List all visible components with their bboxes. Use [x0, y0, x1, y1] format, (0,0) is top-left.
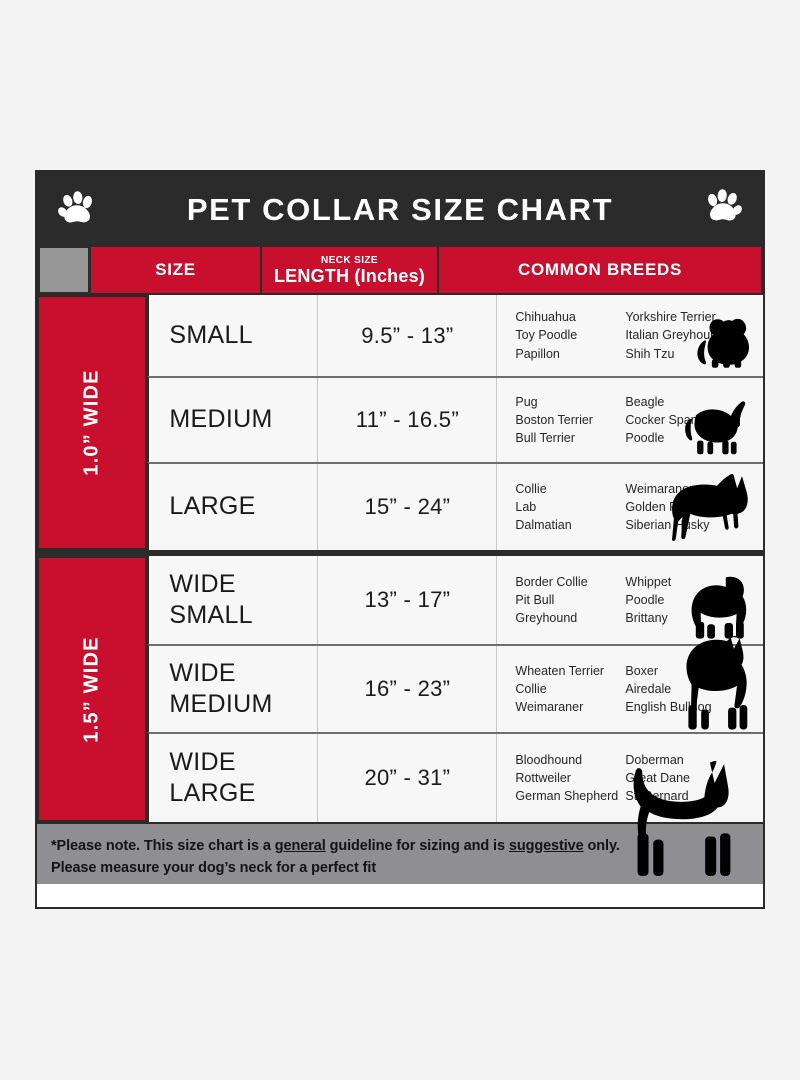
header-length-neck-size: NECK SIZE: [321, 256, 378, 266]
breed-item: Cocker Spaniel: [625, 411, 735, 429]
header-size: SIZE: [89, 247, 260, 293]
breed-item: Rottweiler: [515, 769, 625, 787]
breed-item: Collie: [515, 480, 625, 498]
breed-item: Border Collie: [515, 573, 625, 591]
header-corner-cell: [39, 247, 89, 293]
breed-item: Toy Poodle: [515, 326, 625, 344]
table-row: SMALL 9.5” - 13” Chihuahua Toy Poodle Pa…: [147, 295, 763, 376]
table-row: LARGE 15” - 24” Collie Lab Dalmatian Wei…: [147, 462, 763, 550]
footer-line-1: *Please note. This size chart is a gener…: [51, 835, 749, 857]
breed-item: Dalmatian: [515, 516, 625, 534]
breed-item: Bloodhound: [515, 751, 625, 769]
breed-column-1: Chihuahua Toy Poodle Papillon: [515, 308, 625, 362]
row-size-cell: SMALL: [149, 295, 318, 376]
breed-item: Bull Terrier: [515, 429, 625, 447]
breed-column-1: Border Collie Pit Bull Greyhound: [515, 573, 625, 627]
group-label-1-0-wide: 1.0” WIDE: [37, 295, 147, 550]
row-breeds-cell: Pug Boston Terrier Bull Terrier Beagle C…: [497, 378, 763, 462]
breed-item: Golden Retriever: [625, 498, 735, 516]
breed-item: Chihuahua: [515, 308, 625, 326]
footer-text-suggestive: suggestive: [509, 838, 584, 854]
row-size-label: SMALL: [169, 320, 252, 351]
table-row: MEDIUM 11” - 16.5” Pug Boston Terrier Bu…: [147, 376, 763, 462]
header-common-breeds: COMMON BREEDS: [437, 247, 761, 293]
row-size-label: WIDE: [169, 569, 235, 600]
breed-item: Poodle: [625, 591, 735, 609]
row-breeds-cell: Chihuahua Toy Poodle Papillon Yorkshire …: [497, 295, 763, 376]
breed-item: Pit Bull: [515, 591, 625, 609]
breed-item: Poodle: [625, 429, 735, 447]
breed-column-2: Weimaraner Golden Retriever Siberian Hus…: [625, 480, 735, 534]
breed-column-1: Wheaten Terrier Collie Weimaraner: [515, 662, 625, 716]
row-size-cell: WIDE LARGE: [149, 734, 318, 822]
row-length-cell: 15” - 24”: [318, 464, 497, 550]
table-body: 1.0” WIDE SMALL 9.5” - 13” Chihuahua Toy…: [37, 295, 763, 822]
breed-item: Wheaten Terrier: [515, 662, 625, 680]
row-length-cell: 13” - 17”: [318, 556, 497, 644]
group-label-text: 1.5” WIDE: [81, 636, 104, 742]
row-breeds-cell: Wheaten Terrier Collie Weimaraner Boxer …: [497, 646, 763, 732]
footer-line-2: Please measure your dog’s neck for a per…: [51, 857, 749, 879]
footer-text-a: *Please note. This size chart is a: [51, 838, 275, 854]
breed-item: Boston Terrier: [515, 411, 625, 429]
pet-collar-size-chart: PET COLLAR SIZE CHART SIZE NECK SIZE LEN…: [35, 170, 765, 909]
row-size-label: WIDE: [169, 658, 235, 689]
size-group-1-0-wide: 1.0” WIDE SMALL 9.5” - 13” Chihuahua Toy…: [37, 295, 763, 550]
footer-note: *Please note. This size chart is a gener…: [37, 822, 763, 884]
breed-item: English Bulldog: [625, 698, 735, 716]
row-size-label: WIDE: [169, 747, 235, 778]
row-size-label-2: SMALL: [169, 600, 252, 631]
footer-text-c: only.: [584, 838, 620, 854]
row-breeds-cell: Border Collie Pit Bull Greyhound Whippet…: [497, 556, 763, 644]
breed-item: Whippet: [625, 573, 735, 591]
breed-item: Weimaraner: [515, 698, 625, 716]
row-length-cell: 20” - 31”: [318, 734, 497, 822]
footer-text-b: guideline for sizing and is: [326, 838, 509, 854]
breed-column-2: Yorkshire Terrier Italian Greyhound Shih…: [625, 308, 735, 362]
breed-item: Collie: [515, 680, 625, 698]
row-length-cell: 11” - 16.5”: [318, 378, 497, 462]
breed-item: Boxer: [625, 662, 735, 680]
breed-item: German Shepherd: [515, 787, 625, 805]
breed-item: Papillon: [515, 345, 625, 363]
row-size-label-2: MEDIUM: [169, 689, 272, 720]
breed-column-1: Pug Boston Terrier Bull Terrier: [515, 393, 625, 447]
breed-column-2: Boxer Airedale English Bulldog: [625, 662, 735, 716]
row-size-label: LARGE: [169, 491, 255, 522]
breed-item: Shih Tzu: [625, 345, 735, 363]
chart-title-bar: PET COLLAR SIZE CHART: [37, 172, 763, 247]
breed-item: Greyhound: [515, 609, 625, 627]
breed-item: Pug: [515, 393, 625, 411]
row-size-label: MEDIUM: [169, 404, 272, 435]
row-breeds-cell: Collie Lab Dalmatian Weimaraner Golden R…: [497, 464, 763, 550]
table-row: WIDE MEDIUM 16” - 23” Wheaten Terrier Co…: [147, 644, 763, 732]
group-label-text: 1.0” WIDE: [81, 369, 104, 475]
breed-item: Brittany: [625, 609, 735, 627]
paw-print-icon: [703, 187, 743, 229]
breed-item: Airedale: [625, 680, 735, 698]
breed-column-2: Beagle Cocker Spaniel Poodle: [625, 393, 735, 447]
breed-column-2: Whippet Poodle Brittany: [625, 573, 735, 627]
row-size-label-2: LARGE: [169, 778, 255, 809]
row-length-cell: 9.5” - 13”: [318, 295, 497, 376]
table-row: WIDE SMALL 13” - 17” Border Collie Pit B…: [147, 556, 763, 644]
row-size-cell: WIDE SMALL: [149, 556, 318, 644]
breed-item: Weimaraner: [625, 480, 735, 498]
row-length-cell: 16” - 23”: [318, 646, 497, 732]
header-length: NECK SIZE LENGTH (Inches): [260, 247, 437, 293]
breed-column-1: Bloodhound Rottweiler German Shepherd: [515, 751, 625, 805]
row-size-cell: WIDE MEDIUM: [149, 646, 318, 732]
row-size-cell: MEDIUM: [149, 378, 318, 462]
breed-item: Beagle: [625, 393, 735, 411]
paw-print-icon: [57, 189, 97, 231]
group-label-1-5-wide: 1.5” WIDE: [37, 556, 147, 822]
table-header-row: SIZE NECK SIZE LENGTH (Inches) COMMON BR…: [37, 247, 763, 295]
breed-item: Siberian Husky: [625, 516, 735, 534]
page-title: PET COLLAR SIZE CHART: [187, 192, 613, 228]
breed-column-1: Collie Lab Dalmatian: [515, 480, 625, 534]
header-length-inches: LENGTH (Inches): [274, 267, 425, 285]
row-size-cell: LARGE: [149, 464, 318, 550]
footer-text-general: general: [275, 838, 326, 854]
breed-item: Lab: [515, 498, 625, 516]
breed-item: Yorkshire Terrier: [625, 308, 735, 326]
breed-item: Italian Greyhound: [625, 326, 735, 344]
